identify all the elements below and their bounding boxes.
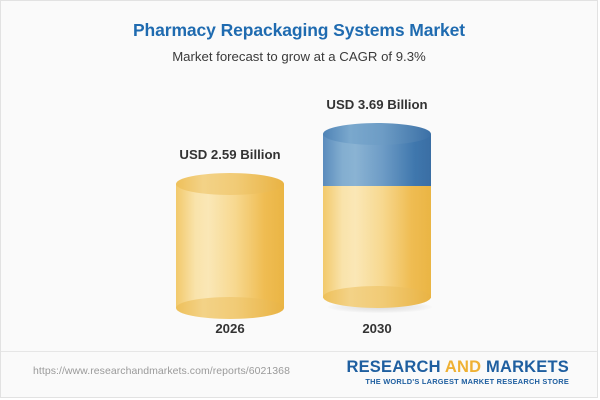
bar-base-ellipse-2026 (176, 297, 284, 319)
bar-top-ellipse-2026 (176, 173, 284, 195)
category-label-2030: 2030 (267, 321, 487, 336)
bar-cylinder-2026[interactable] (176, 173, 284, 308)
bar-top-ellipse-2030 (323, 123, 431, 145)
chart-card: Pharmacy Repackaging Systems Market Mark… (0, 0, 598, 398)
logo-tagline: THE WORLD'S LARGEST MARKET RESEARCH STOR… (346, 377, 569, 387)
footer-divider (1, 351, 597, 352)
research-and-markets-logo[interactable]: RESEARCH AND MARKETS THE WORLD'S LARGEST… (346, 358, 569, 387)
logo-text-research: RESEARCH (346, 358, 444, 376)
bar-segment-gold-2030 (323, 186, 431, 298)
logo-text-markets: MARKETS (481, 358, 569, 376)
bar-cylinder-2030[interactable] (323, 123, 431, 308)
logo-text-and: AND (445, 358, 481, 376)
logo-wordmark: RESEARCH AND MARKETS (346, 358, 569, 376)
value-label-2026: USD 2.59 Billion (120, 147, 340, 162)
bar-segment-gold-2026 (176, 184, 284, 308)
value-label-2030: USD 3.69 Billion (267, 97, 487, 112)
chart-plot-area: USD 2.59 Billion 2026 USD 3.69 Billion 2… (1, 1, 597, 397)
bar-base-ellipse-2030 (323, 286, 431, 308)
report-url[interactable]: https://www.researchandmarkets.com/repor… (33, 365, 290, 377)
